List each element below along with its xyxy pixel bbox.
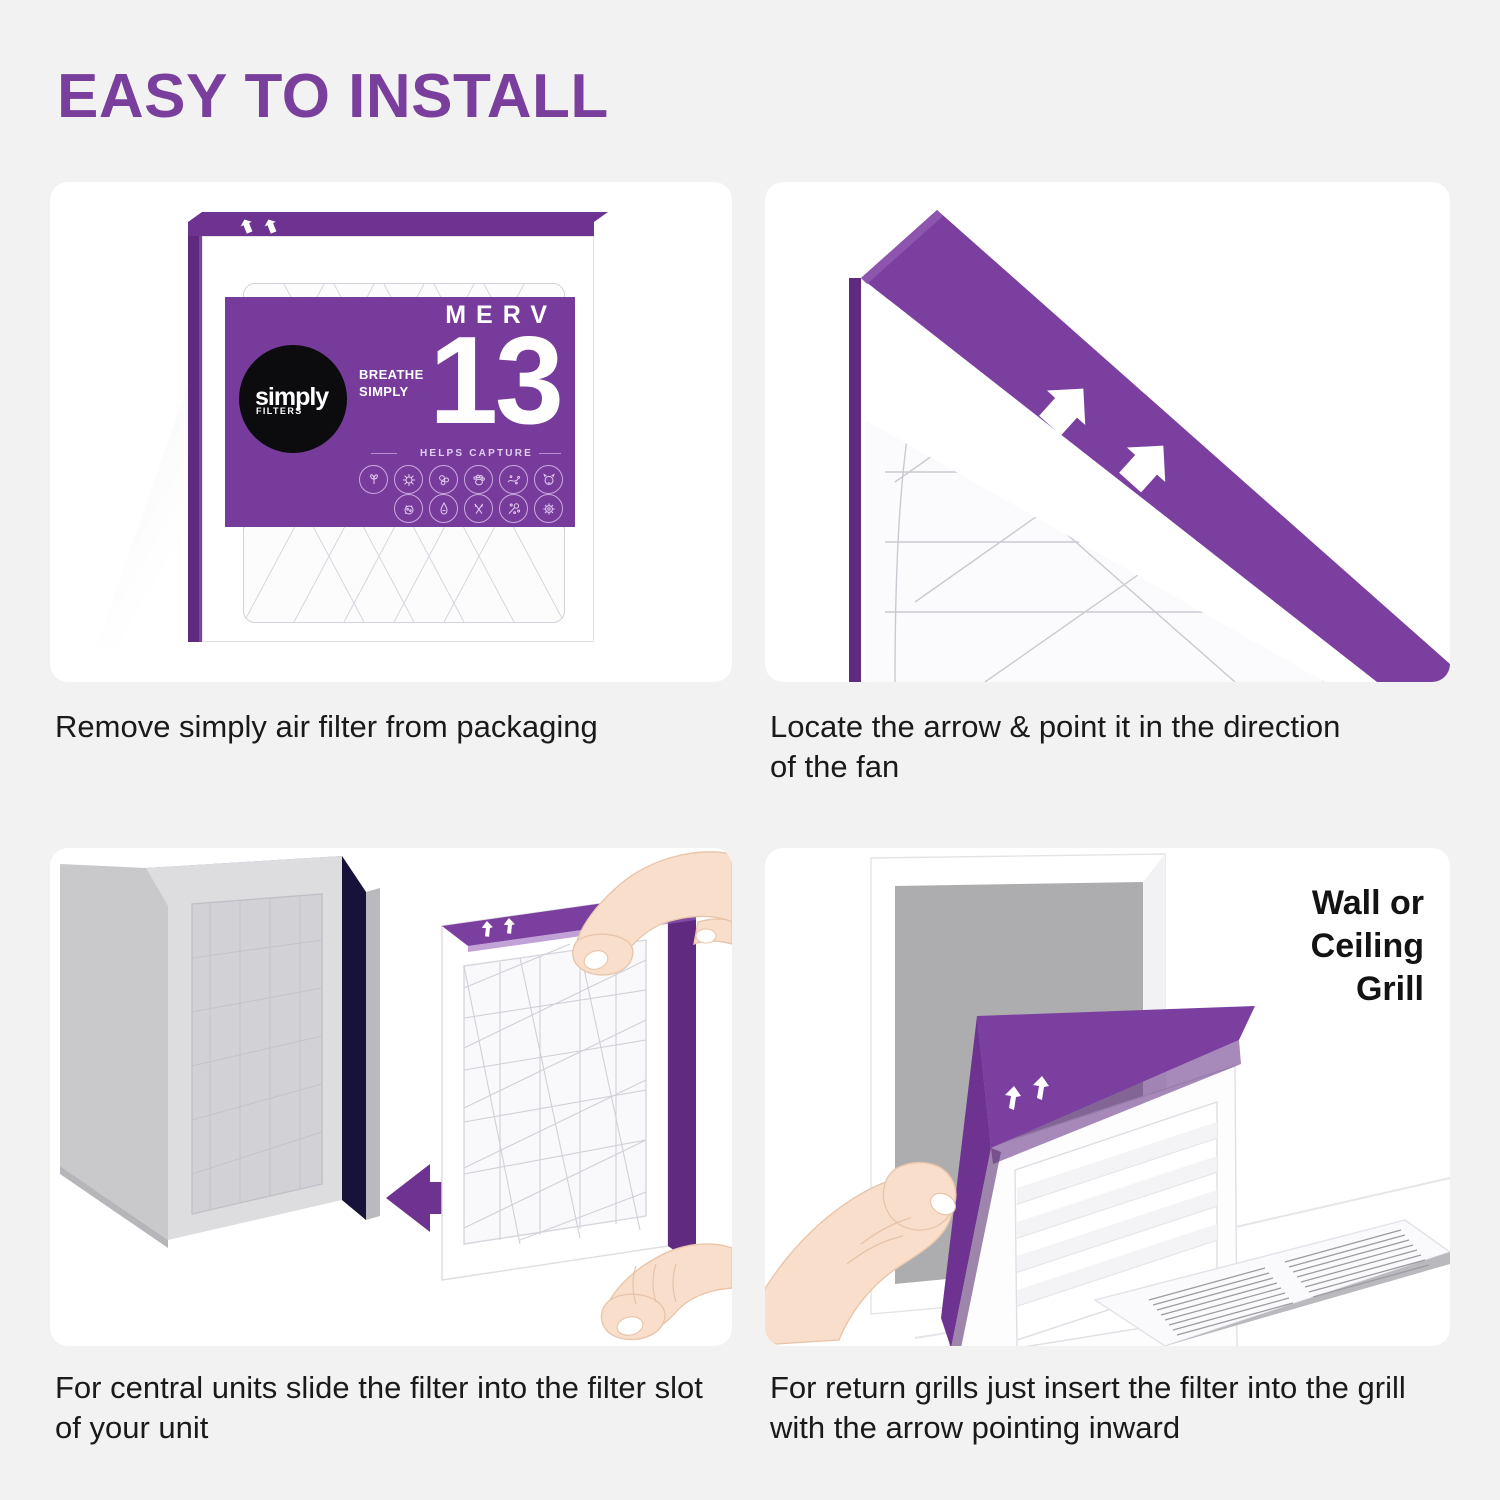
dust-mite-icon [394, 465, 423, 494]
step-3-caption: For central units slide the filter into … [55, 1368, 715, 1449]
step-4-illustration-card: Wall or Ceiling Grill [765, 848, 1450, 1346]
pollen-icon [359, 465, 388, 494]
smoke-icon [499, 465, 528, 494]
tagline-line-1: BREATHE [359, 367, 424, 384]
infographic-page: EASY TO INSTALL [0, 0, 1500, 1500]
airflow-arrows-icon [240, 219, 292, 237]
package-illustration: simply FILTERS BREATHE SIMPLY MERV 13 HE… [50, 182, 732, 682]
air-filter-unit [442, 894, 696, 1280]
filter-package: simply FILTERS BREATHE SIMPLY MERV 13 HE… [188, 212, 608, 652]
sneeze-icon [429, 494, 458, 523]
page-title: EASY TO INSTALL [57, 66, 609, 128]
grill-label-line-2: Ceiling [1184, 925, 1424, 968]
tagline-line-2: SIMPLY [359, 384, 424, 401]
merv-rating: 13 [429, 319, 561, 443]
bacteria-icon [394, 494, 423, 523]
pet-dander-icon [464, 465, 493, 494]
lint-icon [464, 494, 493, 523]
step-1-caption: Remove simply air filter from packaging [55, 707, 745, 747]
step-3-illustration-card [50, 848, 732, 1346]
grill-label-line-3: Grill [1184, 968, 1424, 1011]
capture-icons-row-1 [359, 465, 563, 494]
brand-subname: FILTERS [256, 407, 303, 416]
pollen-particle-icon [499, 494, 528, 523]
wall-or-ceiling-grill-label: Wall or Ceiling Grill [1184, 882, 1424, 1012]
package-purple-label: simply FILTERS BREATHE SIMPLY MERV 13 HE… [225, 297, 575, 527]
helps-capture-label: HELPS CAPTURE [420, 449, 533, 459]
grill-label-line-1: Wall or [1184, 882, 1424, 925]
package-front-face: simply FILTERS BREATHE SIMPLY MERV 13 HE… [202, 236, 594, 642]
step-2-illustration-card [765, 182, 1450, 682]
mold-spore-icon [429, 465, 458, 494]
central-unit-body [60, 856, 380, 1248]
brand-logo-badge: simply FILTERS [239, 345, 347, 453]
hand-bottom [601, 1244, 732, 1340]
virus-icon [534, 494, 563, 523]
pet-hair-icon [534, 465, 563, 494]
helps-capture-rule-right [539, 453, 561, 454]
helps-capture-rule-left [371, 453, 397, 454]
step-4-caption: For return grills just insert the filter… [770, 1368, 1450, 1449]
step-2-caption: Locate the arrow & point it in the direc… [770, 707, 1370, 788]
step-1-illustration-card: simply FILTERS BREATHE SIMPLY MERV 13 HE… [50, 182, 732, 682]
tagline: BREATHE SIMPLY [359, 367, 424, 400]
capture-icons-row-2 [394, 494, 563, 523]
